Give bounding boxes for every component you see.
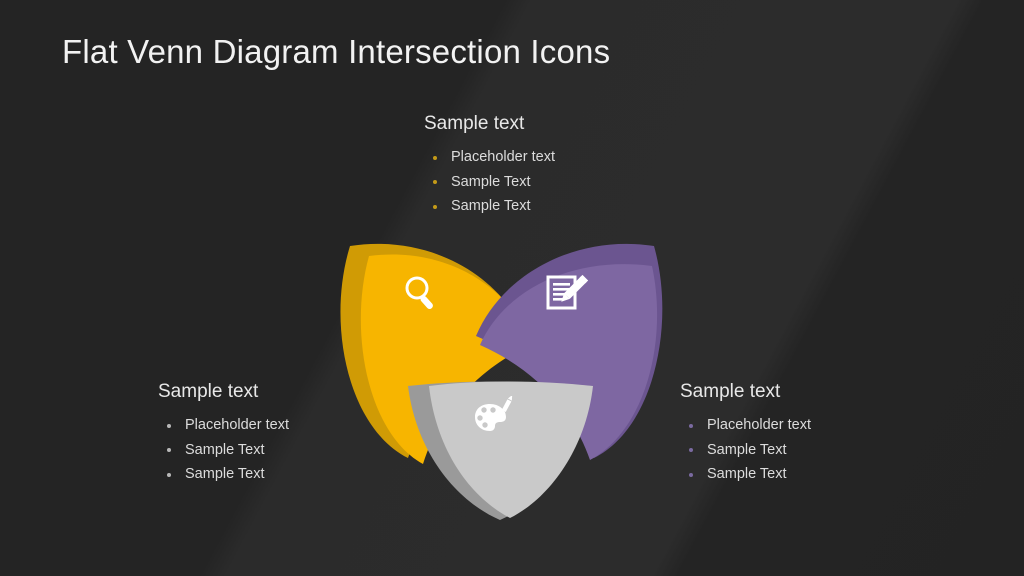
list-item-label: Placeholder text [185, 417, 289, 433]
list-item: Sample Text [680, 462, 811, 487]
list-item-label: Sample Text [451, 174, 531, 190]
text-block-left-heading: Sample text [158, 381, 289, 403]
list-item: Sample Text [680, 438, 811, 463]
slide-canvas: Flat Venn Diagram Intersection Icons [0, 0, 1024, 576]
text-block-left-list: Placeholder text Sample Text Sample Text [158, 413, 289, 487]
bullet-icon [689, 473, 693, 477]
gray-petal-face [429, 382, 593, 519]
list-item-label: Placeholder text [451, 149, 555, 165]
list-item: Sample Text [424, 194, 555, 219]
text-block-top: Sample text Placeholder text Sample Text… [424, 113, 555, 219]
bullet-icon [689, 424, 693, 428]
gray-petal[interactable] [408, 382, 593, 521]
bullet-icon [433, 180, 437, 184]
list-item: Sample Text [158, 462, 289, 487]
text-block-left: Sample text Placeholder text Sample Text… [158, 381, 289, 487]
bullet-icon [689, 448, 693, 452]
bullet-icon [167, 424, 171, 428]
venn-diagram [332, 228, 672, 520]
list-item: Placeholder text [158, 413, 289, 438]
list-item-label: Sample Text [451, 198, 531, 214]
list-item: Placeholder text [424, 145, 555, 170]
list-item: Sample Text [424, 170, 555, 195]
bullet-icon [167, 448, 171, 452]
list-item-label: Sample Text [707, 466, 787, 482]
bullet-icon [433, 156, 437, 160]
text-block-top-heading: Sample text [424, 113, 555, 135]
list-item: Sample Text [158, 438, 289, 463]
text-block-top-list: Placeholder text Sample Text Sample Text [424, 145, 555, 219]
venn-diagram-svg [332, 228, 672, 520]
bullet-icon [167, 473, 171, 477]
bullet-icon [433, 205, 437, 209]
text-block-right: Sample text Placeholder text Sample Text… [680, 381, 811, 487]
list-item-label: Sample Text [185, 442, 265, 458]
list-item-label: Placeholder text [707, 417, 811, 433]
list-item: Placeholder text [680, 413, 811, 438]
text-block-right-list: Placeholder text Sample Text Sample Text [680, 413, 811, 487]
page-title: Flat Venn Diagram Intersection Icons [62, 33, 610, 71]
list-item-label: Sample Text [707, 442, 787, 458]
list-item-label: Sample Text [185, 466, 265, 482]
text-block-right-heading: Sample text [680, 381, 811, 403]
